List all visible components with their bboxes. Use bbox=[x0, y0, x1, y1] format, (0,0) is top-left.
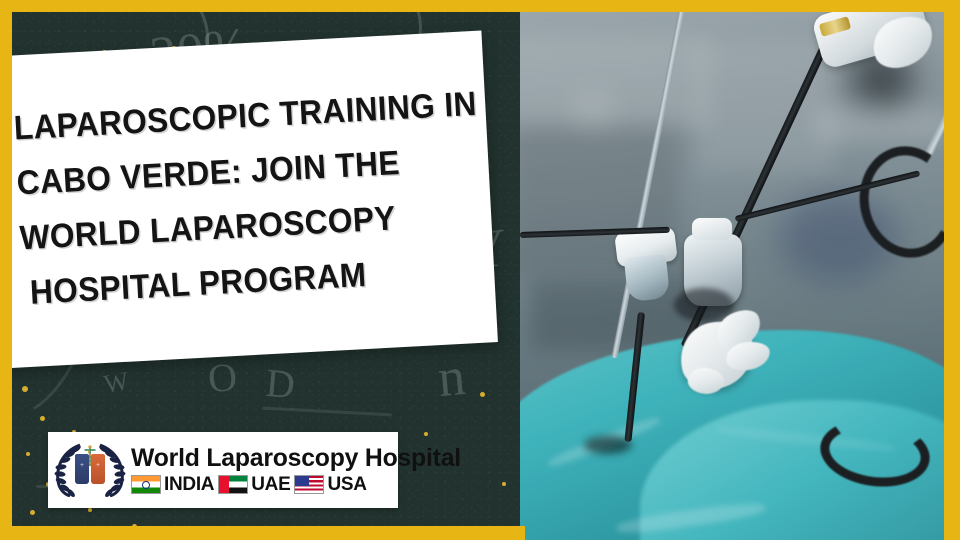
page-title: LAPAROSCOPIC TRAINING IN CABO VERDE: JOI… bbox=[12, 80, 423, 321]
logo-world-laparoscopy-hospital[interactable]: + + World Laparoscopy Hospital INDIA UAE… bbox=[48, 432, 398, 508]
blur-equipment-4 bbox=[816, 108, 944, 142]
country-india: INDIA bbox=[131, 475, 214, 494]
laparoscopic-surgery-photo bbox=[520, 12, 944, 540]
logo-countries: INDIA UAE USA bbox=[131, 475, 392, 494]
blur-highlight bbox=[580, 98, 606, 122]
blur-equipment-1 bbox=[520, 36, 710, 128]
trocar-gray-cap bbox=[692, 218, 732, 240]
decor-dot bbox=[26, 452, 30, 456]
flag-uae-icon bbox=[218, 475, 248, 494]
laurel-wreath-emblem-icon: + + bbox=[53, 439, 127, 501]
border-left bbox=[0, 0, 12, 540]
decor-dot bbox=[480, 392, 485, 397]
flag-usa-icon bbox=[294, 475, 324, 494]
country-label-usa: USA bbox=[327, 475, 366, 494]
border-bottom bbox=[0, 526, 525, 540]
flag-india-icon bbox=[131, 475, 161, 494]
trocar-white-body bbox=[624, 254, 670, 302]
emblem-book-blue: + bbox=[75, 454, 89, 484]
logo-name: World Laparoscopy Hospital bbox=[131, 446, 389, 471]
country-label-uae: UAE bbox=[251, 475, 290, 494]
decor-dot bbox=[502, 482, 506, 486]
decor-dot bbox=[40, 416, 45, 421]
emblem-books: + + bbox=[75, 454, 107, 488]
border-right bbox=[944, 0, 960, 540]
country-usa: USA bbox=[294, 475, 366, 494]
decor-dot bbox=[88, 508, 92, 512]
title-block: LAPAROSCOPIC TRAINING IN CABO VERDE: JOI… bbox=[12, 79, 453, 322]
country-uae: UAE bbox=[218, 475, 290, 494]
country-label-india: INDIA bbox=[164, 475, 214, 494]
decor-dot bbox=[30, 510, 35, 515]
decor-dot bbox=[424, 432, 428, 436]
title-card: LAPAROSCOPIC TRAINING IN CABO VERDE: JOI… bbox=[0, 30, 498, 369]
decor-dot bbox=[22, 386, 28, 392]
banner-graphic: 20% C Y n O D W bbox=[0, 0, 960, 540]
emblem-book-orange: + bbox=[91, 454, 105, 484]
logo-text-block: World Laparoscopy Hospital INDIA UAE USA bbox=[127, 446, 392, 494]
border-top bbox=[0, 0, 960, 12]
